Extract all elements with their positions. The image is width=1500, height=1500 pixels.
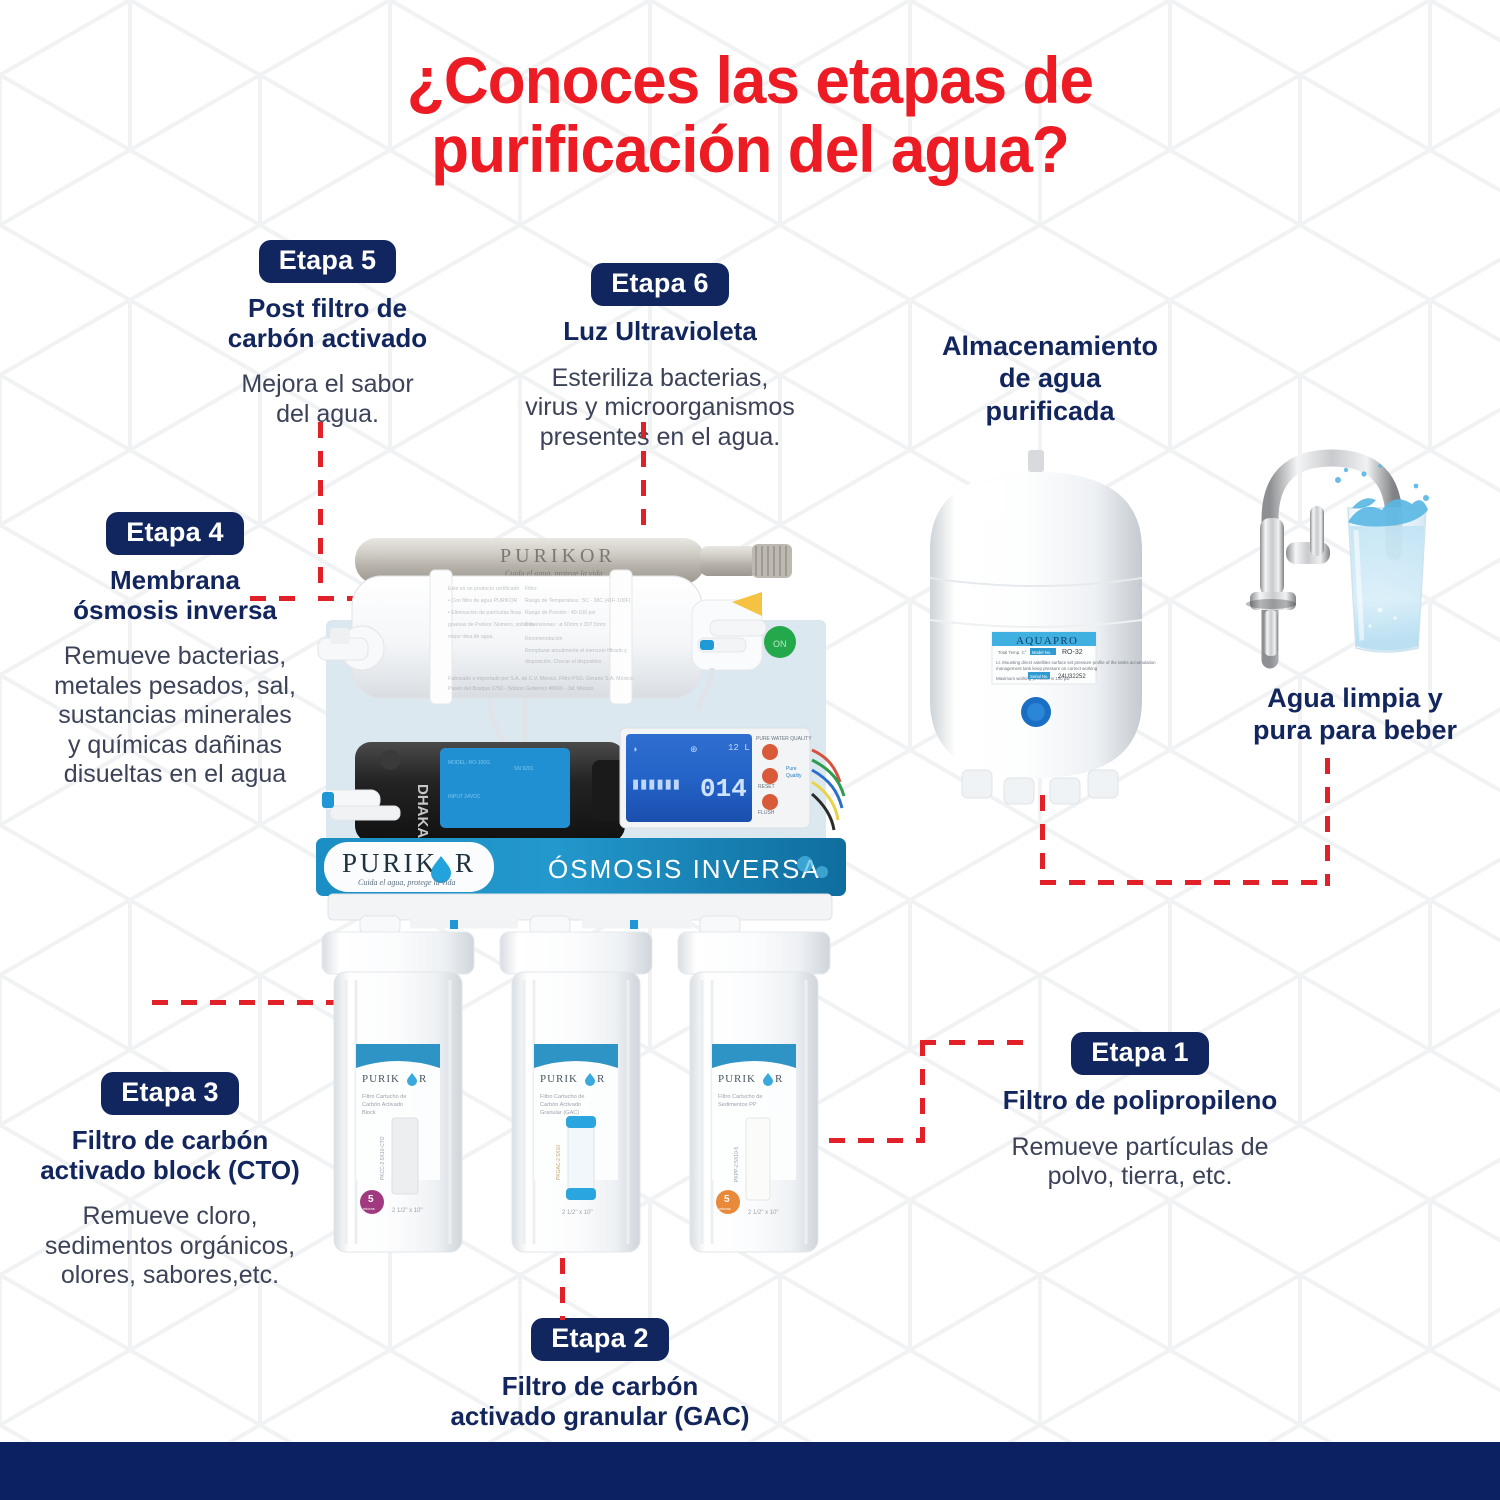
svg-text:2 1/2" x 10": 2 1/2" x 10" — [562, 1210, 593, 1216]
stage-desc-etapa-1: Remueve partículas de polvo, tierra, etc… — [935, 1133, 1345, 1192]
reverse-osmosis-device-illustration: PURIKOR Cuida el agua, protege la vida E… — [300, 520, 860, 1280]
stage-desc-line: Remueve bacterias, — [15, 642, 335, 672]
svg-text:micras: micras — [719, 1206, 731, 1211]
stage-desc-etapa-3: Remueve cloro, sedimentos orgánicos, olo… — [10, 1202, 330, 1291]
stage-block-etapa-2: Etapa 2 Filtro de carbón activado granul… — [400, 1318, 800, 1431]
svg-text:management tank keep pressure: management tank keep pressure on correct… — [996, 666, 1098, 671]
svg-text:ON: ON — [773, 639, 787, 649]
stage-title-etapa-3: Filtro de carbón activado block (CTO) — [10, 1126, 330, 1185]
stage-desc-line: sustancias minerales — [15, 701, 335, 731]
stage-desc-line: Remueve cloro, — [10, 1202, 330, 1232]
svg-text:⊕: ⊕ — [690, 745, 698, 755]
stage-block-etapa-3: Etapa 3 Filtro de carbón activado block … — [10, 1072, 330, 1291]
footer-bar — [0, 1442, 1500, 1500]
svg-text:Filtro Cartucho de: Filtro Cartucho de — [540, 1094, 584, 1100]
stage-block-etapa-1: Etapa 1 Filtro de polipropileno Remueve … — [935, 1032, 1345, 1192]
svg-text:PURIK: PURIK — [718, 1073, 756, 1085]
stage-block-etapa-6: Etapa 6 Luz Ultravioleta Esteriliza bact… — [500, 263, 820, 452]
stage-block-etapa-4: Etapa 4 Membrana ósmosis inversa Remueve… — [15, 512, 335, 790]
stage-title-etapa-5: Post filtro de carbón activado — [170, 294, 485, 353]
stage-desc-line: del agua. — [170, 400, 485, 430]
badge-etapa-6[interactable]: Etapa 6 — [591, 263, 728, 306]
svg-text:PURE WATER QUALITY: PURE WATER QUALITY — [756, 736, 812, 742]
svg-text:Filtro: Filtro — [525, 586, 537, 592]
badge-etapa-5[interactable]: Etapa 5 — [259, 240, 396, 283]
svg-text:PKGAC-2.5X10: PKGAC-2.5X10 — [556, 1145, 562, 1180]
storage-heading-line: purificada — [890, 395, 1210, 427]
svg-text:PKCC-2.5X10-CTO: PKCC-2.5X10-CTO — [380, 1136, 386, 1180]
stage-title-line: Membrana — [15, 566, 335, 596]
stage-title-line: Filtro de carbón — [400, 1372, 800, 1402]
water-storage-tank-illustration: AQUAPRO Total Temp. C° Lt. Mounting dire… — [900, 440, 1180, 810]
svg-text:Recomendación: Recomendación — [525, 636, 563, 642]
brand-panel: PURIK R Cuida el agua, protege la vida Ó… — [316, 838, 846, 896]
svg-text:Fabricado e importado por S.A.: Fabricado e importado por S.A. de C.V. M… — [448, 676, 634, 682]
stage-title-etapa-1: Filtro de polipropileno — [935, 1086, 1345, 1116]
connector-tank-across — [1040, 880, 1330, 885]
storage-heading: Almacenamiento de agua purificada — [890, 330, 1210, 427]
svg-text:INPUT 24VDC: INPUT 24VDC — [448, 794, 481, 800]
svg-text:• Con filtro de agua PURIKOR: • Con filtro de agua PURIKOR — [448, 598, 518, 604]
stage-title-line: Filtro de polipropileno — [935, 1086, 1345, 1116]
clean-water-line: Agua limpia y — [1215, 682, 1495, 714]
svg-text:Quality: Quality — [786, 773, 802, 779]
stage-title-line: Post filtro de — [170, 294, 485, 324]
svg-text:RESET: RESET — [758, 784, 775, 790]
badge-etapa-2[interactable]: Etapa 2 — [531, 1318, 668, 1361]
stage-desc-etapa-4: Remueve bacterias, metales pesados, sal,… — [15, 642, 335, 790]
svg-text:Block: Block — [362, 1110, 376, 1116]
filter-housings: PURIK R Filtro Cartucho de Carbón Activa… — [322, 932, 830, 1252]
svg-text:5: 5 — [368, 1194, 374, 1205]
svg-text:014: 014 — [700, 774, 747, 804]
svg-text:2 1/2" x 10": 2 1/2" x 10" — [748, 1210, 779, 1216]
stage-title-line: activado granular (GAC) — [400, 1402, 800, 1432]
stage-desc-line: sedimentos orgánicos, — [10, 1232, 330, 1262]
stage-desc-line: polvo, tierra, etc. — [935, 1162, 1345, 1192]
stage-desc-line: olores, sabores,etc. — [10, 1261, 330, 1291]
svg-text:• Eliminación de partículas fi: • Eliminación de partículas finas — [448, 610, 522, 616]
svg-text:PKPP-2.5X10-5: PKPP-2.5X10-5 — [734, 1146, 740, 1182]
svg-text:Pure: Pure — [786, 766, 797, 772]
stage-title-etapa-2: Filtro de carbón activado granular (GAC) — [400, 1372, 800, 1431]
svg-text:24U32252: 24U32252 — [1058, 674, 1086, 680]
svg-text:R: R — [455, 848, 476, 878]
svg-text:MODEL: RO-100G: MODEL: RO-100G — [448, 760, 490, 766]
svg-text:Este es un producto certificad: Este es un producto certificado — [448, 586, 519, 592]
connector-etapa-4 — [250, 596, 300, 601]
stage-desc-line: presentes en el agua. — [500, 423, 820, 453]
faucet-and-glass-illustration — [1230, 330, 1500, 670]
storage-heading-line: Almacenamiento — [890, 330, 1210, 362]
stage-title-line: activado block (CTO) — [10, 1156, 330, 1186]
svg-text:disposición. Checar el disposi: disposición. Checar el dispositivo — [525, 659, 602, 665]
storage-heading-line: de agua — [890, 362, 1210, 394]
headline-line-2: purificación del agua? — [45, 115, 1455, 184]
svg-text:◑: ◑ — [632, 745, 637, 755]
connector-faucet-up — [1325, 758, 1330, 886]
svg-text:Filtro Cartucho de: Filtro Cartucho de — [362, 1094, 406, 1100]
stage-desc-line: virus y microorganismos — [500, 393, 820, 423]
stage-desc-etapa-6: Esteriliza bacterias, virus y microorgan… — [500, 364, 820, 453]
controller-display: ◑ ⊕ 12 L ▮▮▮▮▮▮ 014 PURE WATER QUALITY R… — [620, 728, 812, 828]
svg-text:Cuida el agua, protege la vida: Cuida el agua, protege la vida — [358, 878, 455, 887]
svg-text:Total Temp. C°: Total Temp. C° — [998, 650, 1027, 655]
svg-text:Serial No.: Serial No. — [1030, 674, 1048, 679]
svg-text:PURIK: PURIK — [342, 848, 438, 878]
filter-manifold — [328, 894, 832, 934]
svg-text:Paseo del Bosque 1750 - Sótano: Paseo del Bosque 1750 - Sótano Gutiérrez… — [448, 686, 595, 692]
svg-text:2 1/2" x 10": 2 1/2" x 10" — [392, 1208, 423, 1214]
svg-text:Model No.: Model No. — [1032, 650, 1051, 655]
svg-text:Sedimentos PP: Sedimentos PP — [718, 1102, 757, 1108]
svg-text:mejor idea de agua.: mejor idea de agua. — [448, 634, 494, 640]
svg-text:Carbón Activado: Carbón Activado — [362, 1102, 403, 1108]
clean-water-line: pura para beber — [1215, 714, 1495, 746]
stage-desc-line: Remueve partículas de — [935, 1133, 1345, 1163]
svg-text:Granular (GAC): Granular (GAC) — [540, 1110, 579, 1116]
svg-text:ÓSMOSIS INVERSA: ÓSMOSIS INVERSA — [548, 854, 821, 884]
stage-desc-line: Esteriliza bacterias, — [500, 364, 820, 394]
svg-text:5: 5 — [724, 1194, 730, 1205]
stage-desc-line: y químicas dañinas — [15, 731, 335, 761]
svg-text:R: R — [775, 1073, 783, 1085]
connector-etapa-1-riser — [920, 1040, 925, 1142]
svg-text:DHAKA: DHAKA — [414, 784, 431, 838]
badge-etapa-4[interactable]: Etapa 4 — [106, 512, 243, 555]
clean-water-heading: Agua limpia y pura para beber — [1215, 682, 1495, 747]
svg-text:▮▮▮▮▮▮: ▮▮▮▮▮▮ — [632, 777, 681, 792]
svg-text:R: R — [597, 1073, 605, 1085]
svg-text:PURIK: PURIK — [362, 1073, 400, 1085]
stage-title-etapa-6: Luz Ultravioleta — [500, 317, 820, 347]
stage-block-etapa-5: Etapa 5 Post filtro de carbón activado M… — [170, 240, 485, 429]
svg-text:Rango de Temperatura : 5C -: Rango de Temperatura : 5C - 38C (41F-100… — [525, 598, 631, 604]
stage-title-line: carbón activado — [170, 324, 485, 354]
stage-title-line: Luz Ultravioleta — [500, 317, 820, 347]
stage-desc-etapa-5: Mejora el sabor del agua. — [170, 370, 485, 429]
page-title: ¿Conoces las etapas de purificación del … — [45, 46, 1455, 183]
svg-text:Carbón Activado: Carbón Activado — [540, 1102, 581, 1108]
membrane-vessel: Este es un producto certificado • Con fi… — [318, 570, 702, 704]
connector-etapa-1-top — [920, 1040, 1030, 1045]
pump-assembly: MODEL: RO-100G INPUT 24VDC SN 9201 DHAKA — [322, 742, 626, 842]
svg-text:12 L: 12 L — [728, 743, 750, 753]
svg-text:Rango de Presión : 40-100 ps: Rango de Presión : 40-100 psi — [525, 610, 595, 616]
svg-text:Remplazar anualmente el mercur: Remplazar anualmente el mercurio filtrad… — [525, 648, 627, 654]
stage-title-line: Filtro de carbón — [10, 1126, 330, 1156]
stage-desc-line: disueltas en el agua — [15, 760, 335, 790]
badge-etapa-1[interactable]: Etapa 1 — [1071, 1032, 1208, 1075]
headline-line-1: ¿Conoces las etapas de — [45, 46, 1455, 115]
stage-desc-line: metales pesados, sal, — [15, 672, 335, 702]
svg-text:Dimensiones : ø 60mm x 307.: Dimensiones : ø 60mm x 307.5mm — [525, 622, 605, 628]
svg-text:PURIKOR: PURIKOR — [500, 545, 616, 567]
svg-text:gruesas de Purikor. Número, so: gruesas de Purikor. Número, sobre la — [448, 622, 534, 628]
svg-text:Lt. Mounting direct satellites: Lt. Mounting direct satellites surface s… — [996, 660, 1156, 665]
svg-text:SN 9201: SN 9201 — [514, 766, 534, 772]
svg-text:RO-32: RO-32 — [1062, 649, 1083, 656]
stage-desc-line: Mejora el sabor — [170, 370, 485, 400]
badge-etapa-3[interactable]: Etapa 3 — [101, 1072, 238, 1115]
svg-text:micras: micras — [363, 1206, 375, 1211]
svg-text:Filtro Cartucho de: Filtro Cartucho de — [718, 1094, 762, 1100]
svg-text:PURIK: PURIK — [540, 1073, 578, 1085]
svg-text:FLUSH: FLUSH — [758, 810, 775, 816]
svg-text:R: R — [419, 1073, 427, 1085]
svg-text:AQUAPRO: AQUAPRO — [1016, 635, 1078, 647]
